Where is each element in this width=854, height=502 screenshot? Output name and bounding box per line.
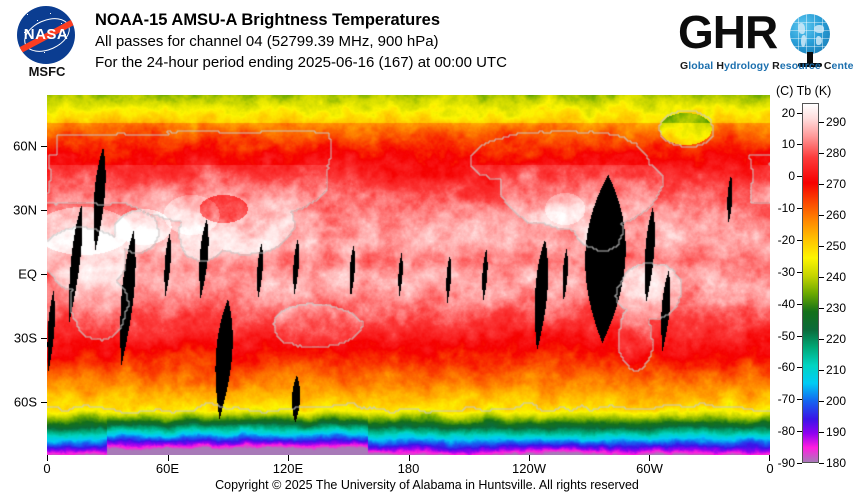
colorbar-label-celsius: 10: [776, 137, 795, 151]
subtitle-channel: All passes for channel 04 (52799.39 MHz,…: [95, 31, 675, 52]
x-axis-label: 120E: [273, 461, 303, 476]
subtitle-period: For the 24-hour period ending 2025-06-16…: [95, 52, 675, 73]
y-axis-tick: [41, 146, 47, 147]
colorbar-tick-kelvin: [819, 122, 824, 123]
colorbar-tick-celsius: [797, 336, 802, 337]
ghrc-tagline-esource: esource: [780, 60, 824, 72]
colorbar-header: (C) Tb (K): [776, 84, 854, 98]
figure-root: NASA MSFC NOAA-15 AMSU-A Brightness Temp…: [0, 0, 854, 502]
nasa-wordmark: NASA: [17, 26, 75, 43]
colorbar-tick-celsius: [797, 304, 802, 305]
colorbar-tick-celsius: [797, 144, 802, 145]
colorbar-tick-kelvin: [819, 184, 824, 185]
colorbar-label-kelvin: 280: [826, 146, 846, 160]
colorbar-tick-kelvin: [819, 246, 824, 247]
colorbar-tick-celsius: [797, 176, 802, 177]
colorbar: (C) Tb (K) 20100-10-20-30-40-50-60-70-80…: [776, 84, 854, 464]
colorbar-label-celsius: 0: [776, 169, 795, 183]
colorbar-label-kelvin: 290: [826, 115, 846, 129]
ghrc-letters: GHR: [678, 8, 777, 56]
colorbar-label-kelvin: 200: [826, 394, 846, 408]
title-block: NOAA-15 AMSU-A Brightness Temperatures A…: [95, 10, 675, 73]
colorbar-tick-kelvin: [819, 308, 824, 309]
colorbar-label-celsius: -60: [776, 360, 795, 374]
globe-icon: [790, 14, 830, 54]
y-axis-tick: [41, 210, 47, 211]
copyright-notice: Copyright © 2025 The University of Alaba…: [0, 478, 854, 492]
colorbar-label-celsius: -40: [776, 297, 795, 311]
colorbar-tick-celsius: [797, 431, 802, 432]
colorbar-label-celsius: 20: [776, 106, 795, 120]
x-axis-label: 60W: [636, 461, 663, 476]
colorbar-label-celsius: -90: [776, 456, 795, 470]
x-axis-label: 0: [43, 461, 50, 476]
y-axis-label: 60N: [0, 139, 37, 154]
x-axis-label: 180: [398, 461, 420, 476]
ghrc-tagline-ydrology: ydrology: [724, 60, 772, 72]
ghrc-tagline: Global Hydrology Resource Center: [680, 60, 854, 72]
y-axis-label: 30N: [0, 203, 37, 218]
colorbar-tick-kelvin: [819, 215, 824, 216]
colorbar-tick-celsius: [797, 113, 802, 114]
colorbar-tick-celsius: [797, 463, 802, 464]
colorbar-label-celsius: -20: [776, 233, 795, 247]
colorbar-label-kelvin: 250: [826, 239, 846, 253]
ghrc-tagline-c: C: [824, 60, 832, 72]
colorbar-tick-celsius: [797, 399, 802, 400]
brightness-temperature-map: [47, 95, 770, 455]
colorbar-label-kelvin: 240: [826, 270, 846, 284]
colorbar-label-celsius: -10: [776, 201, 795, 215]
colorbar-label-kelvin: 210: [826, 363, 846, 377]
y-axis-tick: [41, 338, 47, 339]
colorbar-label-kelvin: 180: [826, 456, 846, 470]
colorbar-tick-kelvin: [819, 432, 824, 433]
colorbar-tick-kelvin: [819, 153, 824, 154]
x-axis-label: 120W: [512, 461, 546, 476]
nasa-meatball-icon: NASA: [17, 6, 75, 64]
colorbar-label-kelvin: 190: [826, 425, 846, 439]
colorbar-tick-kelvin: [819, 401, 824, 402]
map-raster: [47, 95, 770, 455]
colorbar-label-celsius: -70: [776, 392, 795, 406]
colorbar-tick-kelvin: [819, 339, 824, 340]
y-axis-label: EQ: [0, 267, 37, 282]
colorbar-label-celsius: -80: [776, 424, 795, 438]
colorbar-tick-celsius: [797, 272, 802, 273]
colorbar-label-kelvin: 260: [826, 208, 846, 222]
y-axis-tick: [41, 402, 47, 403]
ghrc-tagline-lobal: lobal: [688, 60, 716, 72]
nasa-center-label: MSFC: [8, 64, 86, 79]
ghrc-tagline-h: H: [716, 60, 724, 72]
colorbar-label-celsius: -50: [776, 329, 795, 343]
ghrc-tagline-enter: enter: [832, 60, 854, 72]
colorbar-tick-celsius: [797, 367, 802, 368]
page-title: NOAA-15 AMSU-A Brightness Temperatures: [95, 10, 675, 31]
y-axis-label: 30S: [0, 331, 37, 346]
colorbar-tick-celsius: [797, 208, 802, 209]
colorbar-label-celsius: -30: [776, 265, 795, 279]
colorbar-label-kelvin: 220: [826, 332, 846, 346]
nasa-logo: NASA MSFC: [8, 6, 86, 82]
colorbar-tick-kelvin: [819, 277, 824, 278]
colorbar-gradient: [802, 103, 819, 463]
y-axis-tick: [41, 274, 47, 275]
ghrc-tagline-r: R: [772, 60, 780, 72]
colorbar-label-kelvin: 270: [826, 177, 846, 191]
colorbar-tick-kelvin: [819, 370, 824, 371]
ghrc-logo: GHR Global Hydrology Resource Center: [678, 8, 848, 80]
colorbar-tick-celsius: [797, 240, 802, 241]
colorbar-label-kelvin: 230: [826, 301, 846, 315]
x-axis-label: 0: [766, 461, 773, 476]
y-axis-label: 60S: [0, 395, 37, 410]
colorbar-tick-kelvin: [819, 463, 824, 464]
x-axis-label: 60E: [156, 461, 179, 476]
